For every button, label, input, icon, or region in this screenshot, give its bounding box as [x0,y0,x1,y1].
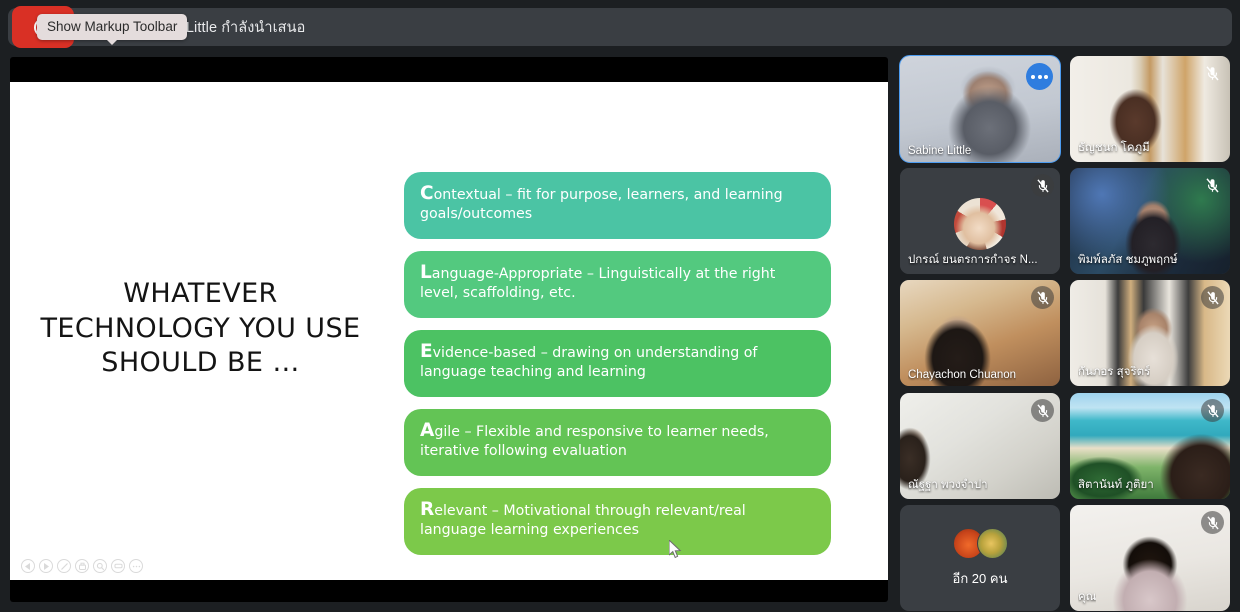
mic-off-icon [1207,404,1219,418]
overflow-avatars [953,528,1008,559]
bullet-text: ontextual – fit for purpose, learners, a… [420,187,783,222]
mic-off-icon [1206,178,1219,193]
mic-off-icon [1207,291,1219,305]
participant-tile-pakorn[interactable]: ปกรณ์ ยนตรการกำจร N... [900,168,1060,274]
zoom-meeting-window: Sabine Little กำลังนำเสนอ Show Markup To… [0,0,1240,612]
participant-tile-chayachon-chuanon[interactable]: Chayachon Chuanon [900,280,1060,386]
participant-tile-kanphaon[interactable]: กันภอร สุจริตร์ [1070,280,1230,386]
bullet-lead-letter: E [420,341,433,362]
mute-badge [1031,399,1054,422]
participant-tile-self[interactable]: คุณ [1070,505,1230,611]
mic-off-icon [1037,291,1049,305]
mute-badge [1031,174,1054,197]
bullet-lead-letter: A [420,420,434,441]
participant-tile-pimlapas[interactable]: พิมพ์ลภัส ชมภูพฤกษ์ [1070,168,1230,274]
participant-more-options-button[interactable] [1026,63,1053,90]
slide-navigation-toolbar[interactable] [21,559,143,573]
more-participants-tile[interactable]: อีก 20 คน [900,505,1060,611]
bullet-text: elevant – Motivational through relevant/… [420,503,746,538]
bullet-lead-letter: R [420,499,434,520]
bullet-text: vidence-based – drawing on understanding… [420,345,757,380]
zoom-icon[interactable] [93,559,107,573]
note-icon[interactable] [111,559,125,573]
participant-name: ณัฐฐา พวงจำปา [908,476,988,494]
participant-filmstrip[interactable]: Sabine Little ธัญชนก โคภูมี [898,55,1240,612]
bullet-text: gile – Flexible and responsive to learne… [420,424,769,459]
participant-name: กันภอร สุจริตร์ [1078,363,1150,381]
participant-tile-sabine-little[interactable]: Sabine Little [900,56,1060,162]
dot-icon [1038,75,1042,79]
participant-name: สิตานันท์ ภูติยา [1078,476,1154,494]
mute-badge [1201,62,1224,85]
participant-name: ปกรณ์ ยนตรการกำจร N... [908,251,1038,269]
avatar [977,528,1008,559]
mute-badge [1201,174,1224,197]
dot-icon [1044,75,1048,79]
participant-name: ธัญชนก โคภูมี [1078,139,1150,157]
bullet-text: anguage-Appropriate – Linguistically at … [420,266,775,301]
slide-headline: WHATEVER TECHNOLOGY YOU USE SHOULD BE … [28,277,373,381]
mute-badge [1201,286,1224,309]
bullet-bar: Language-Appropriate – Linguistically at… [404,251,831,318]
mute-badge [1201,511,1224,534]
bullet-bar: Agile – Flexible and responsive to learn… [404,409,831,476]
participant-tile-thanchanok[interactable]: ธัญชนก โคภูมี [1070,56,1230,162]
participant-tile-natta[interactable]: ณัฐฐา พวงจำปา [900,393,1060,499]
shared-screen-stage[interactable]: WHATEVER TECHNOLOGY YOU USE SHOULD BE … … [10,57,888,602]
mic-off-icon [1207,516,1219,530]
previous-slide-icon[interactable] [21,559,35,573]
mic-off-icon [1037,179,1049,193]
window-title-bar: Sabine Little กำลังนำเสนอ [8,8,1232,46]
mute-badge [1201,399,1224,422]
bullet-bar: Relevant – Motivational through relevant… [404,488,831,555]
participant-tile-sitanan[interactable]: สิตานันท์ ภูติยา [1070,393,1230,499]
more-icon[interactable] [129,559,143,573]
avatar [954,198,1006,250]
mic-off-icon [1206,66,1219,81]
bullet-bar: Contextual – fit for purpose, learners, … [404,172,831,239]
next-slide-icon[interactable] [39,559,53,573]
mouse-cursor [669,540,682,564]
show-markup-toolbar-tooltip: Show Markup Toolbar [37,14,187,40]
bullet-bar: Evidence-based – drawing on understandin… [404,330,831,397]
more-participants-label: อีก 20 คน [953,568,1008,589]
mic-off-icon [1037,404,1049,418]
slide-bullet-bars: Contextual – fit for purpose, learners, … [404,172,831,555]
presentation-slide: WHATEVER TECHNOLOGY YOU USE SHOULD BE … … [10,82,888,580]
pen-icon[interactable] [57,559,71,573]
stamp-icon[interactable] [75,559,89,573]
bullet-lead-letter: C [420,183,434,204]
participant-name: พิมพ์ลภัส ชมภูพฤกษ์ [1078,251,1178,269]
participant-name: Chayachon Chuanon [908,369,1016,381]
participant-name: Sabine Little [908,145,971,157]
mute-badge [1031,286,1054,309]
bullet-lead-letter: L [420,262,432,283]
dot-icon [1031,75,1035,79]
participant-name: คุณ [1078,588,1096,606]
